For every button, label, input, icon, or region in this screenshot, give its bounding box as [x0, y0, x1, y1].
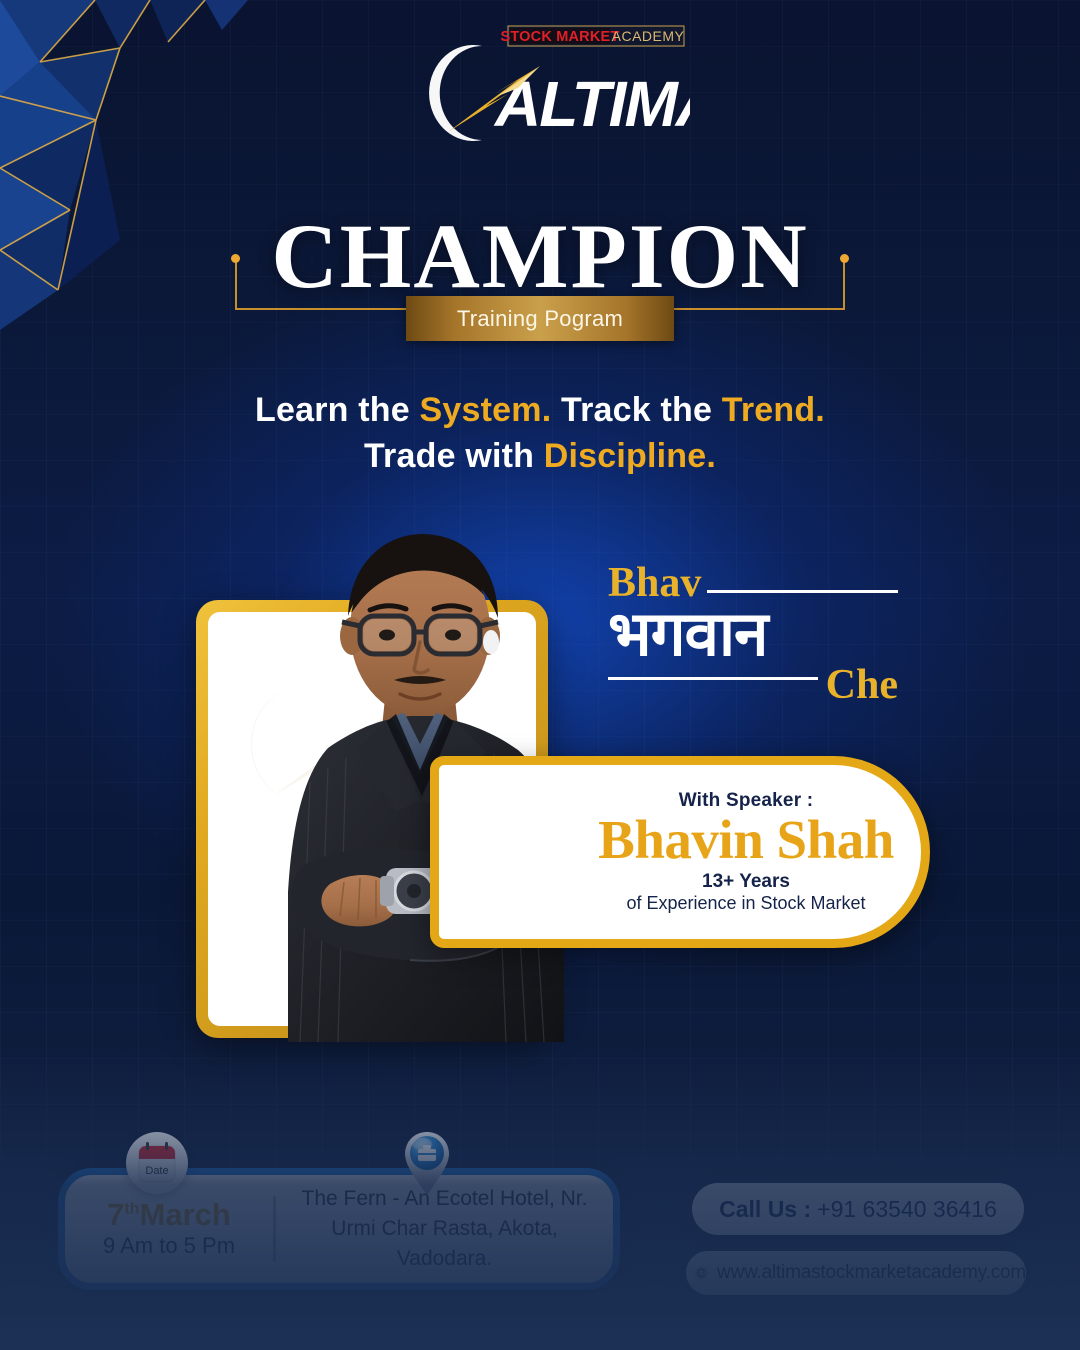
event-date: 7thMarch — [65, 1199, 273, 1232]
map-pin-icon — [399, 1128, 455, 1200]
motto-word-mid: भगवान — [608, 602, 898, 668]
tagline-1d: Trend. — [722, 391, 825, 429]
tagline-2b: Discipline. — [544, 437, 716, 475]
venue-line-2: Urmi Char Rasta, Akota, Vadodara. — [290, 1214, 599, 1274]
call-us-pill[interactable]: Call Us : +91 63540 36416 — [692, 1183, 1024, 1235]
calendar-icon: Date — [136, 1141, 178, 1185]
website-url: www.altimastockmarketacademy.com — [717, 1262, 1026, 1284]
poster-canvas: STOCK MARKET ACADEMY ALTIMA CHAMPION Tra… — [0, 0, 1080, 1350]
logo-badge-primary: STOCK MARKET — [501, 29, 620, 45]
event-date-month: March — [140, 1197, 231, 1232]
tagline-1a: Learn the — [255, 391, 419, 429]
event-date-block: 7thMarch 9 Am to 5 Pm — [65, 1199, 273, 1259]
tagline-line-1: Learn the System. Track the Trend. — [0, 388, 1080, 434]
speaker-name: Bhavin Shah — [598, 811, 894, 869]
phone-number: +91 63540 36416 — [817, 1196, 997, 1223]
speaker-card: With Speaker : Bhavin Shah 13+ Years of … — [430, 756, 930, 948]
speaker-experience: of Experience in Stock Market — [626, 893, 865, 914]
subtitle-text: Training Pogram — [457, 306, 623, 332]
tagline-1c: Track the — [551, 391, 721, 429]
event-time: 9 Am to 5 Pm — [65, 1233, 273, 1259]
event-date-day: 7 — [107, 1197, 124, 1232]
altima-logo-graphic: STOCK MARKET ACADEMY ALTIMA — [390, 22, 690, 147]
motto-word-top: Bhav — [608, 562, 701, 604]
website-pill[interactable]: www.altimastockmarketacademy.com — [686, 1251, 1026, 1295]
motto-word-bottom: Che — [826, 664, 898, 706]
event-date-ordinal: th — [124, 1201, 139, 1218]
logo-badge-secondary: ACADEMY — [612, 28, 685, 44]
brand-logo: STOCK MARKET ACADEMY ALTIMA — [0, 22, 1080, 147]
tagline-block: Learn the System. Track the Trend. Trade… — [0, 388, 1080, 479]
frame-dot-right — [840, 254, 849, 263]
hero-heading-block: CHAMPION Training Pogram — [0, 206, 1080, 341]
subtitle-banner: Training Pogram — [406, 296, 674, 341]
tagline-1b: System. — [420, 391, 552, 429]
call-us-label: Call Us : — [719, 1196, 811, 1223]
tagline-line-2: Trade with Discipline. — [0, 434, 1080, 480]
motto-block: Bhav भगवान Che — [608, 562, 898, 706]
globe-icon — [694, 1257, 709, 1289]
calendar-icon-label: Date — [145, 1165, 168, 1177]
location-badge — [396, 1128, 458, 1200]
tagline-2a: Trade with — [364, 437, 544, 475]
motto-rule-top — [707, 590, 898, 593]
motto-rule-bottom — [608, 677, 818, 680]
motto-top-row: Bhav — [608, 562, 898, 604]
page-title: CHAMPION — [271, 210, 808, 302]
motto-bottom-row: Che — [608, 664, 898, 706]
frame-dot-left — [231, 254, 240, 263]
champion-frame: CHAMPION — [235, 206, 844, 302]
speaker-years: 13+ Years — [702, 871, 790, 893]
calendar-badge: Date — [126, 1132, 188, 1194]
